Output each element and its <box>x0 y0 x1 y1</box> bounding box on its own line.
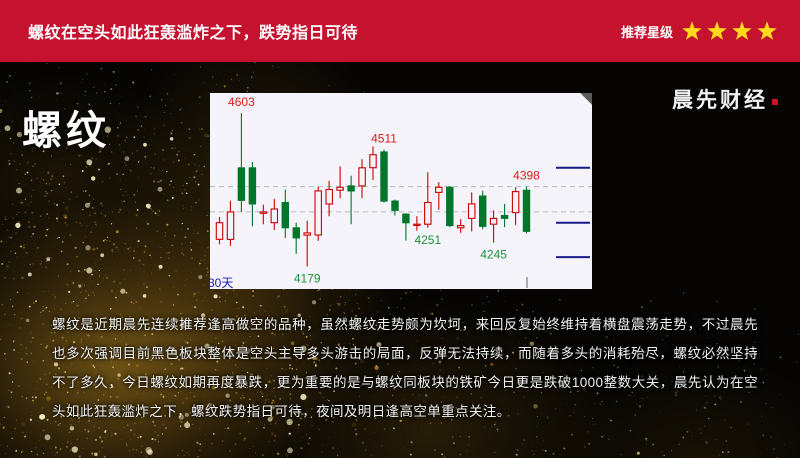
svg-text:4251: 4251 <box>414 233 441 247</box>
brand-logo: 晨先财经 <box>672 84 778 114</box>
star-icon <box>731 20 753 42</box>
header-bar: 螺纹在空头如此狂轰滥炸之下，跌势指日可待 推荐星级 <box>0 0 800 62</box>
svg-text:4179: 4179 <box>294 272 321 286</box>
brand-label: 晨先财经 <box>672 89 768 112</box>
rating-group: 推荐星级 <box>621 20 778 42</box>
svg-text:4398: 4398 <box>513 169 540 183</box>
svg-text:30天: 30天 <box>210 276 233 289</box>
svg-text:4603: 4603 <box>228 95 255 109</box>
chart-corner-fold <box>580 93 592 105</box>
rating-label: 推荐星级 <box>621 22 673 41</box>
rating-stars <box>681 20 778 42</box>
svg-text:4245: 4245 <box>480 248 507 262</box>
star-icon <box>706 20 728 42</box>
analysis-paragraph: 螺纹是近期晨先连续推荐逢高做空的品种，虽然螺纹走势颇为坎坷，来回反复始终维持着横… <box>52 310 758 426</box>
candlestick-chart: 46034179451142514245439830天 <box>210 93 592 289</box>
svg-text:4511: 4511 <box>371 132 397 146</box>
star-icon <box>681 20 703 42</box>
page-title: 螺纹 <box>22 98 110 156</box>
poster-root: 螺纹在空头如此狂轰滥炸之下，跌势指日可待 推荐星级 晨先财经 螺纹 460341… <box>0 0 800 458</box>
header-title: 螺纹在空头如此狂轰滥炸之下，跌势指日可待 <box>28 19 358 43</box>
brand-dot-icon <box>772 99 778 105</box>
star-icon <box>756 20 778 42</box>
